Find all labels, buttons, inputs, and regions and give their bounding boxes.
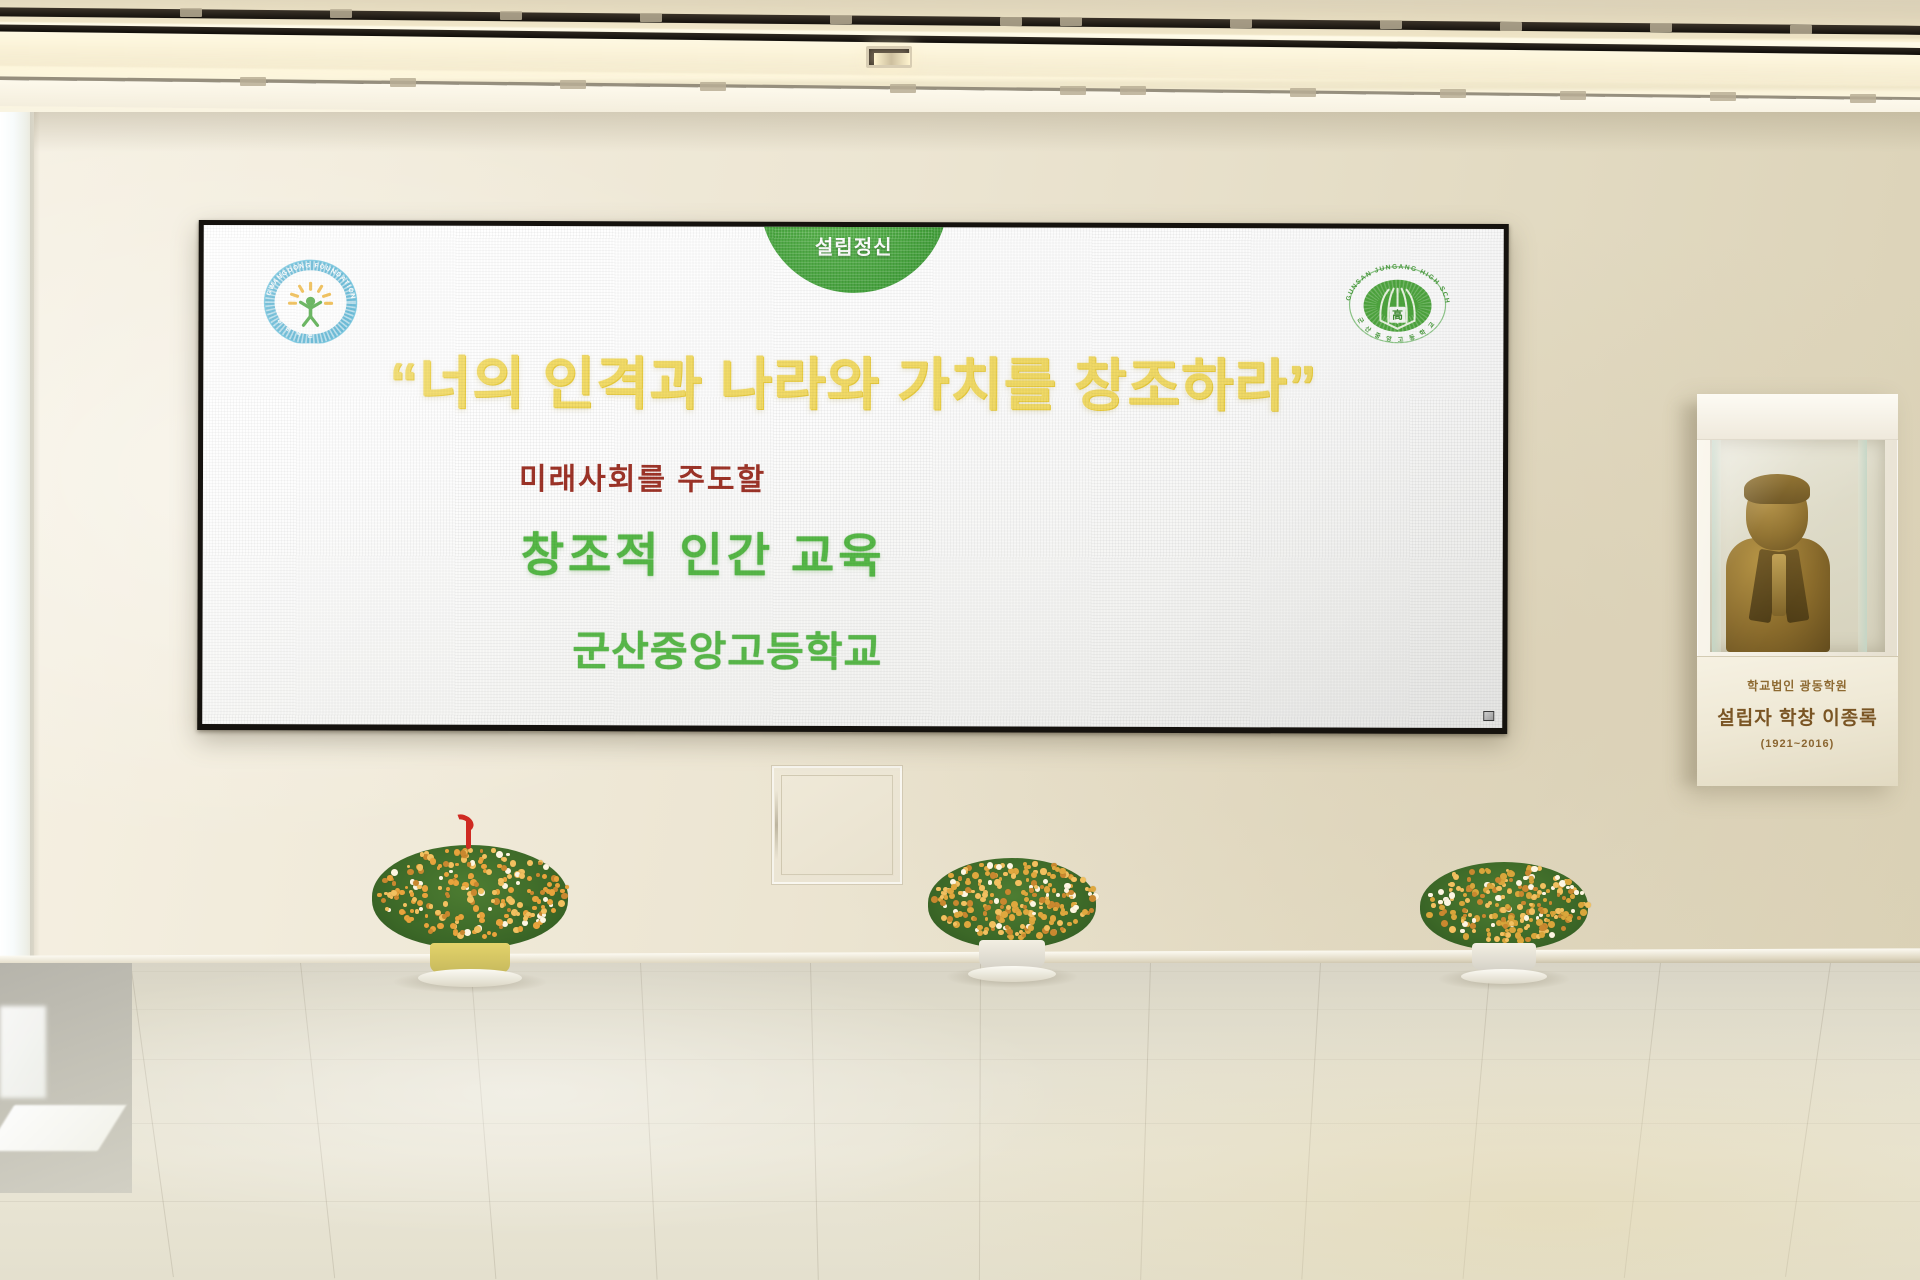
bloom [1011,873,1017,879]
bloom [1467,877,1471,881]
bloom [468,873,474,879]
bloom [1509,871,1515,877]
bloom [1449,926,1456,933]
bloom [1040,885,1044,889]
bloom [540,890,545,895]
bloom [961,901,966,906]
bloom [381,898,387,904]
bloom [415,909,419,913]
bloom [964,921,971,928]
ceiling-rail-tick [1710,92,1736,101]
bloom [510,860,517,867]
bloom [507,874,512,879]
bloom [422,885,428,891]
bloom [978,879,982,883]
bloom [982,892,988,898]
bloom [474,926,481,933]
bloom [985,871,990,876]
bloom [953,922,957,926]
bloom [464,929,471,936]
bloom [497,864,502,869]
bloom [1460,888,1464,892]
bloom [989,921,996,928]
lobby-scene: 설립정신 GWANGDONG FOUNDATION 광 동 학 [0,0,1920,1280]
led-display-board[interactable]: 설립정신 GWANGDONG FOUNDATION 광 동 학 [198,222,1508,732]
bloom [551,908,556,913]
ceiling-rail-tick [180,8,202,17]
bloom [1047,872,1051,876]
bloom [1057,920,1063,926]
bloom [473,905,479,911]
bloom [1529,918,1533,922]
bloom [1517,904,1523,910]
headline-slogan: “너의 인격과 나라와 가치를 창조하라” [203,337,1503,423]
floor-sheen [0,963,1920,1280]
bloom [1494,936,1500,942]
ceiling-rail-tick [560,80,586,89]
bloom [1472,918,1477,923]
glass-reflection [1710,440,1885,652]
bloom [429,904,433,908]
bloom [1023,869,1029,875]
ceiling-rail-tick [500,11,522,20]
bloom [940,895,944,899]
bloom [1549,932,1555,938]
plant-saucer [968,966,1056,982]
bloom [994,898,999,903]
bloom [1016,911,1022,917]
bloom [1028,925,1034,931]
bloom [419,907,423,911]
bloom [532,906,536,910]
ceiling-rail-tick [1120,86,1146,95]
bloom [973,917,977,921]
bloom [1519,891,1525,897]
bloom [453,880,459,886]
bloom [1043,879,1048,884]
bloom [508,887,514,893]
bloom [538,862,541,865]
bloom [1080,877,1086,883]
bloom [1430,897,1435,902]
ceiling-rail-tick [830,15,852,24]
bloom [409,917,414,922]
chrysanthemum-pot-left [372,845,568,981]
bloom [1482,914,1486,918]
bloom [1557,893,1561,897]
ceiling-rail-tick [1850,94,1876,103]
led-text-block: “너의 인격과 나라와 가치를 창조하라” 미래사회를 주도할 창조적 인간 교… [202,337,1503,680]
bloom [445,849,449,853]
ceiling-rail-tick [890,84,916,93]
sunlight-patch-upper [0,1006,46,1098]
bloom [1068,890,1073,895]
bloom [1003,872,1007,876]
bloom [1537,903,1541,907]
bloom [958,876,962,880]
bloom [1529,876,1534,881]
bloom [508,898,515,905]
bloom [1060,927,1064,931]
bloom [1431,903,1435,907]
chrysanthemum-pot-center [928,858,1096,976]
bloom [1539,932,1545,938]
bloom [407,865,411,869]
led-bezel: 설립정신 GWANGDONG FOUNDATION 광 동 학 [197,220,1509,734]
case-top-valance [1697,394,1898,440]
bloom [420,852,425,857]
bloom [448,879,454,885]
bloom [1052,888,1056,892]
founder-bust-case[interactable]: 학교법인 광동학원 설립자 학창 이종록 (1921~2016) [1697,394,1898,786]
bloom [965,880,971,886]
svg-text:高: 高 [1392,308,1403,322]
access-panel-hinge [775,790,778,860]
bloom [504,914,508,918]
bloom [1469,869,1476,876]
bloom [1515,932,1522,939]
bloom [543,897,548,902]
ceiling-rail-tick [1440,89,1466,98]
bloom [1507,889,1512,894]
bloom [1000,905,1004,909]
bloom [1465,898,1470,903]
screen-control-button[interactable] [1483,711,1494,721]
bloom [1503,924,1508,929]
ceiling-rail-tick [1380,20,1402,29]
bloom [936,887,940,891]
bloom [1520,918,1525,923]
bloom [1565,879,1572,886]
bloom [390,896,394,900]
bloom [1040,868,1046,874]
bloom [931,896,938,903]
bloom [944,895,948,899]
bloom [958,891,962,895]
bloom [492,932,497,937]
bloom [948,873,954,879]
bloom [967,900,974,907]
bloom [486,869,492,875]
bloom [541,908,547,914]
ceiling-rail-tick [390,78,416,87]
bloom [951,884,956,889]
bloom [1029,916,1035,922]
access-panel[interactable] [772,766,902,884]
bloom [1026,878,1030,882]
bloom [410,909,414,913]
wall-top-shadow [0,112,1920,152]
bloom [1050,915,1057,922]
ceiling-rail-tick [1060,17,1082,26]
spirit-badge-label: 설립정신 [760,231,948,261]
bloom [1441,920,1448,927]
bloom [1580,891,1584,895]
bloom [449,870,453,874]
bloom [1032,893,1036,897]
founder-plaque: 학교법인 광동학원 설립자 학창 이종록 (1921~2016) [1697,656,1898,786]
bloom [1031,872,1037,878]
bloom [422,893,428,899]
bloom [1491,923,1495,927]
bloom [1456,886,1461,891]
bloom [446,887,450,891]
bloom [391,890,397,896]
bloom [1468,913,1472,917]
bloom [991,927,995,931]
bloom [1449,882,1454,887]
bloom [975,893,981,899]
bloom [1015,880,1021,886]
bloom [1486,890,1490,894]
bloom [1000,898,1007,905]
bloom [547,882,553,888]
bloom [1090,886,1096,892]
bloom [1549,901,1553,905]
bloom [1505,929,1508,932]
bloom [1005,889,1011,895]
bloom [1050,874,1056,880]
bloom [1505,938,1509,942]
bloom [1463,933,1469,939]
bloom [542,874,547,879]
bloom [387,875,393,881]
bloom [482,934,487,939]
bloom [1039,906,1043,910]
ceiling-rail-tick [1560,91,1586,100]
ceiling-rail-tick [1000,17,1022,26]
bloom [1459,901,1464,906]
bloom [438,864,442,868]
bloom [1073,905,1078,910]
bloom [543,864,549,870]
plaque-line-years: (1921~2016) [1697,738,1898,750]
bloom [516,881,520,885]
bloom [979,885,984,890]
bloom [1059,868,1065,874]
gwangdong-foundation-emblem: GWANGDONG FOUNDATION 광 동 학 원 [259,257,361,343]
bloom [478,888,484,894]
bloom [467,862,472,867]
bloom [1027,865,1031,869]
bloom [501,865,507,871]
bloom [540,917,547,924]
bloom [526,912,531,917]
bloom [500,903,505,908]
bloom [527,860,533,866]
bloom [1577,916,1581,920]
bloom [1089,895,1096,902]
bloom [507,908,511,912]
recessed-downlight-icon [866,46,912,68]
bloom [1089,908,1094,913]
plaque-line-org: 학교법인 광동학원 [1697,677,1898,694]
bloom [438,886,441,889]
bloom [1050,929,1057,936]
bloom [392,881,397,886]
bloom [1543,898,1547,902]
left-corner-recess [0,112,34,982]
bloom [407,869,414,876]
bloom [1041,914,1046,919]
bloom [1021,890,1026,895]
bloom [561,893,568,900]
bloom [972,872,979,879]
bloom [1496,886,1502,892]
access-panel-inner [781,775,893,875]
ceiling-rail-tick [1500,22,1522,31]
chrysanthemum-pot-right [1420,862,1588,978]
bloom [1566,898,1571,903]
bloom [940,900,946,906]
bloom [1529,908,1536,915]
bloom [961,869,967,875]
bloom [424,923,429,928]
plant-pot [979,940,1045,968]
bloom [496,919,503,926]
bloom [988,880,992,884]
bloom [1492,913,1498,919]
bloom [1438,900,1442,904]
bloom [471,889,477,895]
bloom [1542,892,1546,896]
bloom [1453,874,1459,880]
bloom [1585,902,1591,908]
bloom [1020,924,1025,929]
bloom [996,923,1002,929]
bloom [1574,890,1578,894]
bloom [1546,889,1550,893]
bloom [990,872,996,878]
bloom [1472,892,1477,897]
bloom [1463,914,1467,918]
bloom [492,890,497,895]
bloom [491,899,495,903]
bloom [444,872,449,877]
bloom [507,918,513,924]
bloom [480,849,484,853]
bloom [1030,901,1036,907]
bloom [1451,914,1457,920]
bloom [990,893,994,897]
ceiling-rail-tick [1650,23,1672,32]
bloom [1044,886,1051,893]
bloom [963,913,968,918]
bloom [479,918,484,923]
bloom [477,914,481,918]
bloom [491,848,496,853]
bloom [425,914,428,917]
bloom [1548,921,1555,928]
bloom [474,882,479,887]
ceiling-rail-tick [640,13,662,22]
bloom [496,851,503,858]
bloom [1571,909,1575,913]
ceiling-rail-tick [1060,86,1086,95]
bloom [1053,907,1058,912]
bloom [1032,912,1036,916]
bloom [985,917,989,921]
bloom [994,879,1001,886]
bloom [549,889,556,896]
bloom [1487,932,1492,937]
bloom [399,890,404,895]
bloom [1531,866,1538,873]
bloom [1007,929,1012,934]
subtitle-red: 미래사회를 주도할 [203,453,1503,501]
bloom [1001,911,1008,918]
bloom [971,890,975,894]
tiled-floor [0,963,1920,1280]
bloom [428,929,433,934]
bloom [516,912,520,916]
bloom [455,863,459,867]
bloom [954,912,960,918]
bloom [983,930,988,935]
bloom [1466,888,1471,893]
bloom [1449,892,1456,899]
bloom [949,893,955,899]
bloom [1470,923,1476,929]
bloom [947,916,953,922]
bloom [1071,877,1077,883]
bloom [1439,911,1444,916]
bloom [1449,888,1453,892]
bloom [1546,914,1550,918]
bloom [1426,912,1432,918]
bloom [1463,893,1467,897]
spirit-badge: 설립정신 [760,225,948,293]
bloom [518,926,523,931]
bloom [377,893,382,898]
bloom [399,909,405,915]
bloom [1486,928,1490,932]
bloom [527,876,532,881]
bloom [417,885,422,890]
bloom [1438,889,1445,896]
subtitle-green: 창조적 인간 교육 [203,515,1503,588]
bloom [488,907,492,911]
bloom [517,902,523,908]
bloom [1062,893,1066,897]
bloom [405,886,409,890]
bloom [1540,910,1544,914]
bloom [983,911,987,915]
bloom [1073,919,1078,924]
bloom [1570,894,1575,899]
bloom [1495,903,1499,907]
bloom [442,914,447,919]
gunsan-jungang-high-school-emblem: 高 GUNSAN JUNGANG HIGH SCHOOL 군 산 중 앙 고 등… [1339,259,1455,347]
bloom [967,907,974,914]
bloom [1555,875,1560,880]
ceiling-rail-tick [1790,25,1812,34]
bloom [482,854,487,859]
bloom [448,862,454,868]
bloom [1022,934,1025,937]
bloom [487,931,491,935]
bloom [1477,899,1483,905]
bloom [1064,888,1069,893]
bloom [1428,893,1432,897]
bloom [1480,894,1484,898]
bloom [478,859,483,864]
bloom [454,849,460,855]
bloom [430,858,437,865]
bloom [417,900,424,907]
bloom [1533,887,1537,891]
bloom [1525,937,1530,942]
